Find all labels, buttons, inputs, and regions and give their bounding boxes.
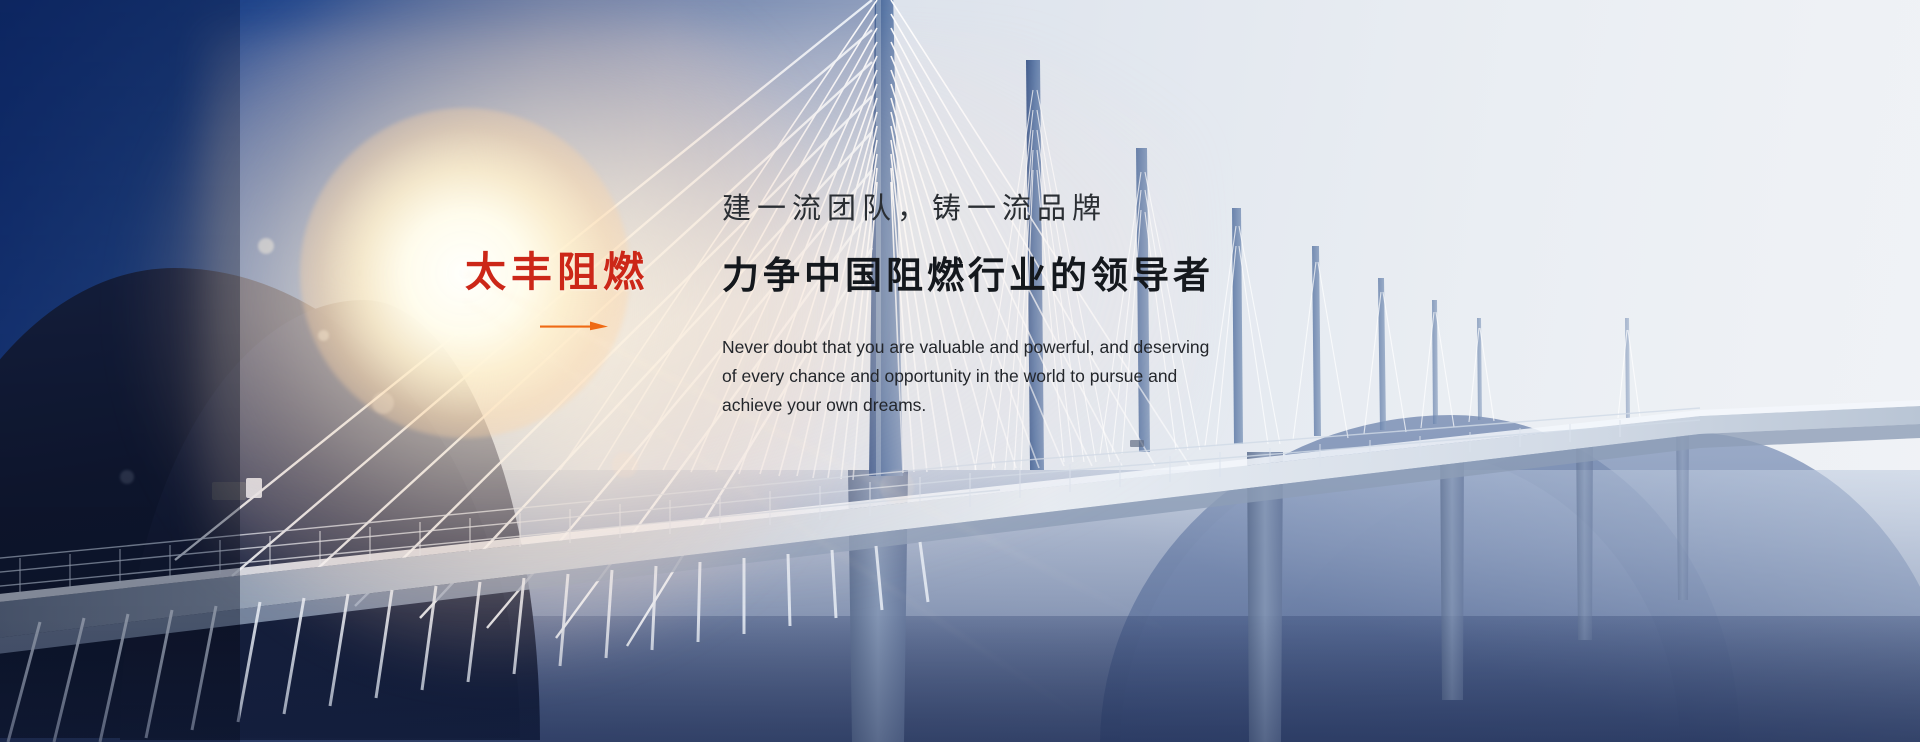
headline-main: 力争中国阻燃行业的领导者 <box>722 245 1362 299</box>
brand-logo[interactable]: 太丰阻燃 <box>465 252 665 331</box>
lede-line-3: achieve your own dreams. <box>722 391 1282 420</box>
lede-paragraph: Never doubt that you are valuable and po… <box>722 333 1282 420</box>
headline-sub: 建一流团队，铸一流品牌 <box>722 185 1362 227</box>
headline-copy: 建一流团队，铸一流品牌 力争中国阻燃行业的领导者 Never doubt tha… <box>722 185 1362 420</box>
banner-content: 太丰阻燃 建一流团队，铸一流品牌 力争中国阻燃行业的领导者 Never doub… <box>0 0 1920 742</box>
lede-line-1: Never doubt that you are valuable and po… <box>722 333 1282 362</box>
brand-logo-text: 太丰阻燃 <box>465 252 665 293</box>
arrow-right-icon <box>540 321 608 331</box>
hero-banner: 太丰阻燃 建一流团队，铸一流品牌 力争中国阻燃行业的领导者 Never doub… <box>0 0 1920 742</box>
lede-line-2: of every chance and opportunity in the w… <box>722 362 1282 391</box>
